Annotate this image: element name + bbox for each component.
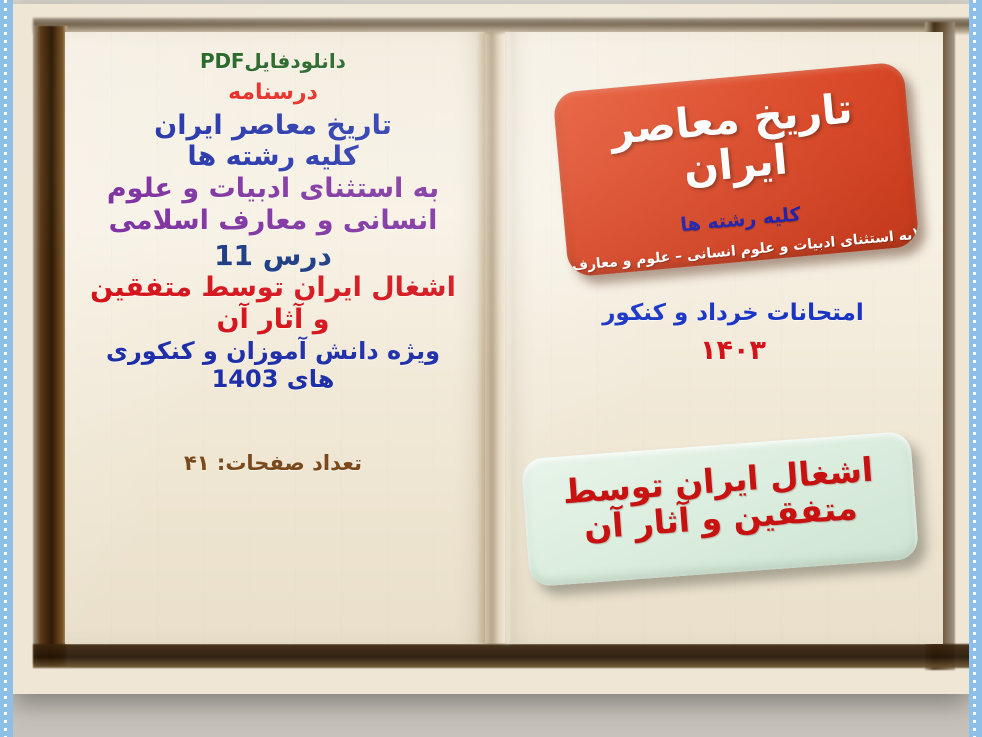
exam-year-label: ۱۴۰۳ [533,335,933,366]
book-spine [477,32,513,644]
book-cover-bottom-edge [33,644,973,668]
book-graphic: دانلودفایلPDF درسنامه تاریخ معاصر ایران … [13,4,969,694]
book-title: تاریخ معاصر ایران [73,110,473,142]
right-dotted-border [969,0,982,737]
document-type-label: درسنامه [73,80,473,106]
exception-line-1: به استثنای ادبیات و علوم [73,173,473,205]
left-border-dots [4,0,7,737]
orange-title-card: تاریخ معاصر ایران کلیه رشته ها (به استثن… [552,61,919,277]
lesson-title-line-2: و آثار آن [73,304,473,336]
page-count-label: تعداد صفحات: ۴۱ [73,451,473,476]
download-pdf-label: دانلودفایلPDF [73,50,473,74]
orange-card-title: تاریخ معاصر ایران [554,81,913,203]
all-fields-label: کلیه رشته ها [73,141,473,173]
left-dotted-border [0,0,13,737]
lesson-title-line-1: اشغال ایران توسط متفقین [73,272,473,304]
book-cover-left-edge [33,26,67,666]
audience-line-1: ویژه دانش آموزان و کنکوری [73,337,473,365]
lesson-number: درس 11 [73,239,473,272]
audience-line-2: های 1403 [73,365,473,393]
exam-info-block: امتحانات خرداد و کنکور ۱۴۰۳ [533,300,933,366]
right-border-dots [973,0,976,737]
exception-line-2: انسانی و معارف اسلامی [73,205,473,237]
left-page-content: دانلودفایلPDF درسنامه تاریخ معاصر ایران … [73,50,473,630]
poster-stage: دانلودفایلPDF درسنامه تاریخ معاصر ایران … [0,0,982,737]
exam-session-label: امتحانات خرداد و کنکور [533,300,933,326]
